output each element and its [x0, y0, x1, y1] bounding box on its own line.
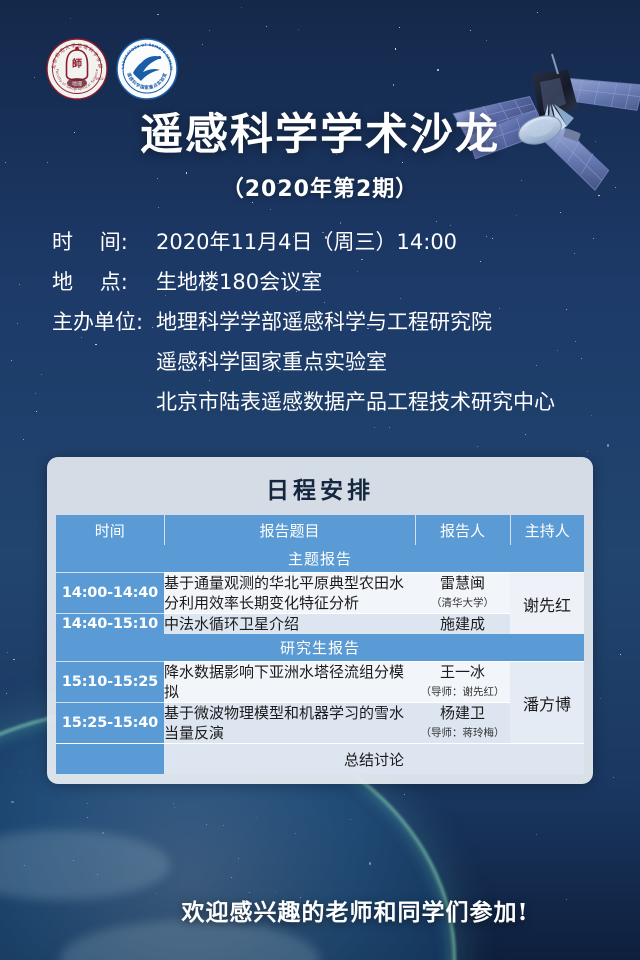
schedule-table: 时间报告题目报告人主持人主题报告14:00-14:40基于通量观测的华北平原典型…: [56, 515, 584, 774]
cell-speaker: 施建成: [415, 614, 510, 635]
poster-title: 遥感科学学术沙龙: [0, 112, 640, 159]
svg-text:1902: 1902: [95, 77, 104, 81]
info-row-0: 时 间:2020年11月4日（周三）14:00: [52, 222, 555, 262]
cell-speaker: 雷慧闽（清华大学）: [415, 573, 510, 614]
section-row: 主题报告: [56, 545, 584, 573]
state-key-laboratory-remote-sensing-science-logo: STATE KEY LABORATORY OF REMOTE SENSING S…: [116, 38, 178, 100]
table-row: 14:00-14:40基于通量观测的华北平原典型农田水分利用效率长期变化特征分析…: [56, 573, 584, 614]
cell-time: 15:25-15:40: [56, 703, 164, 744]
column-header-3: 主持人: [510, 515, 584, 545]
cell-speaker: 杨建卫（导师：蒋玲梅）: [415, 703, 510, 744]
info-value-line: 生地楼180会议室: [156, 262, 555, 302]
speaker-affiliation: （导师：蒋玲梅）: [415, 724, 510, 743]
info-label: 时 间:: [52, 222, 156, 262]
info-label: 地 点:: [52, 262, 156, 302]
cell-talk-title: 基于微波物理模型和机器学习的雪水当量反演: [164, 703, 415, 744]
bnu-faculty-of-geographical-science-logo: 北京师范大学地理科学学部 Faculty of Geographical Sci…: [46, 38, 108, 100]
info-value: 2020年11月4日（周三）14:00: [156, 222, 555, 262]
cell-talk-title: 降水数据影响下亚洲水塔径流组分模拟: [164, 662, 415, 703]
info-row-1: 地 点:生地楼180会议室: [52, 262, 555, 302]
closing-label: 总结讨论: [164, 744, 584, 775]
table-row: 15:10-15:25降水数据影响下亚洲水塔径流组分模拟王一冰（导师：谢先红）潘…: [56, 662, 584, 703]
info-value-line: 地理科学学部遥感科学与工程研究院: [156, 302, 555, 342]
speaker-affiliation: （导师：谢先红）: [415, 683, 510, 702]
info-label: 主办单位:: [52, 302, 156, 342]
cell-talk-title: 基于通量观测的华北平原典型农田水分利用效率长期变化特征分析: [164, 573, 415, 614]
svg-text:地理: 地理: [72, 80, 82, 87]
section-title: 主题报告: [56, 545, 584, 573]
speaker-affiliation: （清华大学）: [415, 594, 510, 613]
info-row-2: 主办单位:地理科学学部遥感科学与工程研究院遥感科学国家重点实验室北京市陆表遥感数…: [52, 302, 555, 422]
table-row: 15:25-15:40基于微波物理模型和机器学习的雪水当量反演杨建卫（导师：蒋玲…: [56, 703, 584, 744]
cell-time: 14:40-15:10: [56, 614, 164, 635]
cell-speaker: 王一冰（导师：谢先红）: [415, 662, 510, 703]
schedule-card-title: 日程安排: [56, 471, 584, 505]
schedule-card: 日程安排 时间报告题目报告人主持人主题报告14:00-14:40基于通量观测的华…: [47, 457, 593, 784]
cell-time: 14:00-14:40: [56, 573, 164, 614]
logo-group: 北京师范大学地理科学学部 Faculty of Geographical Sci…: [46, 38, 178, 100]
poster-footer: 欢迎感兴趣的老师和同学们参加!: [0, 893, 640, 927]
info-value: 地理科学学部遥感科学与工程研究院遥感科学国家重点实验室北京市陆表遥感数据产品工程…: [156, 302, 555, 422]
event-info-block: 时 间:2020年11月4日（周三）14:00地 点:生地楼180会议室主办单位…: [52, 222, 555, 422]
section-row: 研究生报告: [56, 634, 584, 662]
cell-host: 潘方博: [510, 662, 584, 744]
schedule-header-row: 时间报告题目报告人主持人: [56, 515, 584, 545]
footer-text: 欢迎感兴趣的老师和同学们参加!: [111, 893, 528, 927]
info-value-line: 遥感科学国家重点实验室: [156, 342, 555, 382]
info-value-line: 北京市陆表遥感数据产品工程技术研究中心: [156, 382, 555, 422]
table-row: 14:40-15:10中法水循环卫星介绍施建成: [56, 614, 584, 635]
column-header-2: 报告人: [415, 515, 510, 545]
svg-text:師: 師: [72, 57, 82, 70]
closing-row: 总结讨论: [56, 744, 584, 775]
poster-root: 北京师范大学地理科学学部 Faculty of Geographical Sci…: [0, 0, 640, 960]
info-value-line: 2020年11月4日（周三）14:00: [156, 222, 555, 262]
column-header-0: 时间: [56, 515, 164, 545]
cell-talk-title: 中法水循环卫星介绍: [164, 614, 415, 635]
poster-subtitle: （2020年第2期）: [0, 171, 640, 203]
title-block: 遥感科学学术沙龙 （2020年第2期）: [0, 112, 640, 203]
cell-time: [56, 744, 164, 775]
cell-time: 15:10-15:25: [56, 662, 164, 703]
cell-host: 谢先红: [510, 573, 584, 635]
column-header-1: 报告题目: [164, 515, 415, 545]
section-title: 研究生报告: [56, 634, 584, 662]
info-value: 生地楼180会议室: [156, 262, 555, 302]
